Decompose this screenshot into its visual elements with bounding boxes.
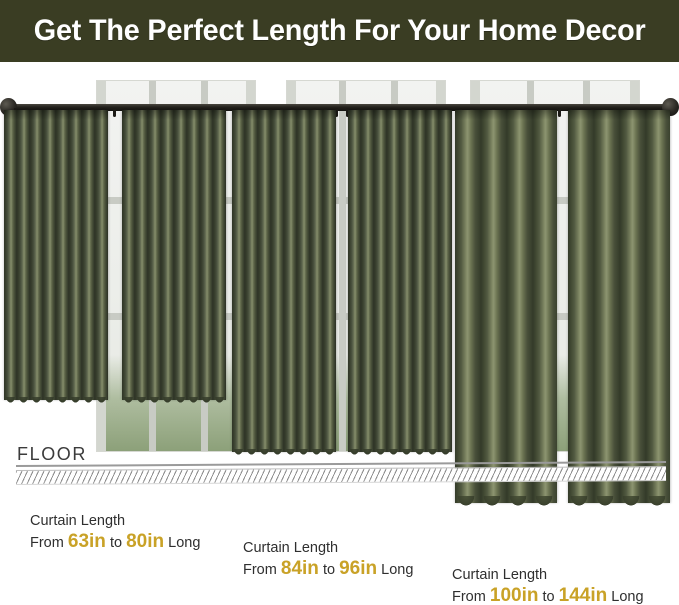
- curtain-panel-short-left: [4, 110, 108, 400]
- caption-title: Curtain Length: [30, 512, 200, 531]
- curtain-panel-long-right: [568, 110, 670, 503]
- curtain-panel-medium-left: [232, 110, 336, 452]
- caption-range: From 63in to 80in Long: [30, 531, 200, 554]
- curtain-hem: [348, 449, 452, 459]
- caption-to-value: 80in: [126, 531, 164, 552]
- header-banner: Get The Perfect Length For Your Home Dec…: [0, 0, 679, 62]
- caption-from-word: From: [243, 562, 277, 578]
- caption-title: Curtain Length: [243, 539, 413, 558]
- curtain-panel-medium-right: [348, 110, 452, 452]
- curtain-scene: FLOOR Curtain Length From 63in to 80in L…: [0, 62, 679, 605]
- caption-short: Curtain Length From 63in to 80in Long: [30, 512, 200, 554]
- caption-range: From 100in to 144in Long: [452, 585, 644, 605]
- caption-suffix: Long: [381, 562, 413, 578]
- curtain-puddle-hem: [566, 496, 672, 514]
- caption-title: Curtain Length: [452, 566, 644, 585]
- curtain-puddle-hem: [453, 496, 559, 514]
- curtain-panel-long-left: [455, 110, 557, 503]
- caption-from-value: 100in: [490, 585, 539, 605]
- curtain-panel-short-right: [122, 110, 226, 400]
- caption-from-value: 63in: [68, 531, 106, 552]
- curtain-hook: [113, 108, 116, 117]
- caption-to-value: 96in: [339, 558, 377, 579]
- caption-to-word: to: [543, 589, 555, 605]
- caption-suffix: Long: [168, 535, 200, 551]
- caption-range: From 84in to 96in Long: [243, 558, 413, 581]
- caption-to-word: to: [323, 562, 335, 578]
- curtain-hem: [122, 397, 226, 407]
- window-mullion-vertical: [339, 81, 346, 451]
- floor-label: FLOOR: [17, 444, 87, 465]
- caption-from-word: From: [30, 535, 64, 551]
- curtain-hem: [232, 449, 336, 459]
- infographic-stage: Get The Perfect Length For Your Home Dec…: [0, 0, 679, 605]
- caption-suffix: Long: [611, 589, 643, 605]
- caption-from-value: 84in: [281, 558, 319, 579]
- caption-to-word: to: [110, 535, 122, 551]
- caption-medium: Curtain Length From 84in to 96in Long: [243, 539, 413, 581]
- curtain-hook: [558, 108, 561, 117]
- caption-long: Curtain Length From 100in to 144in Long: [452, 566, 644, 605]
- page-title: Get The Perfect Length For Your Home Dec…: [34, 14, 646, 48]
- caption-to-value: 144in: [559, 585, 608, 605]
- curtain-hem: [4, 397, 108, 407]
- caption-from-word: From: [452, 589, 486, 605]
